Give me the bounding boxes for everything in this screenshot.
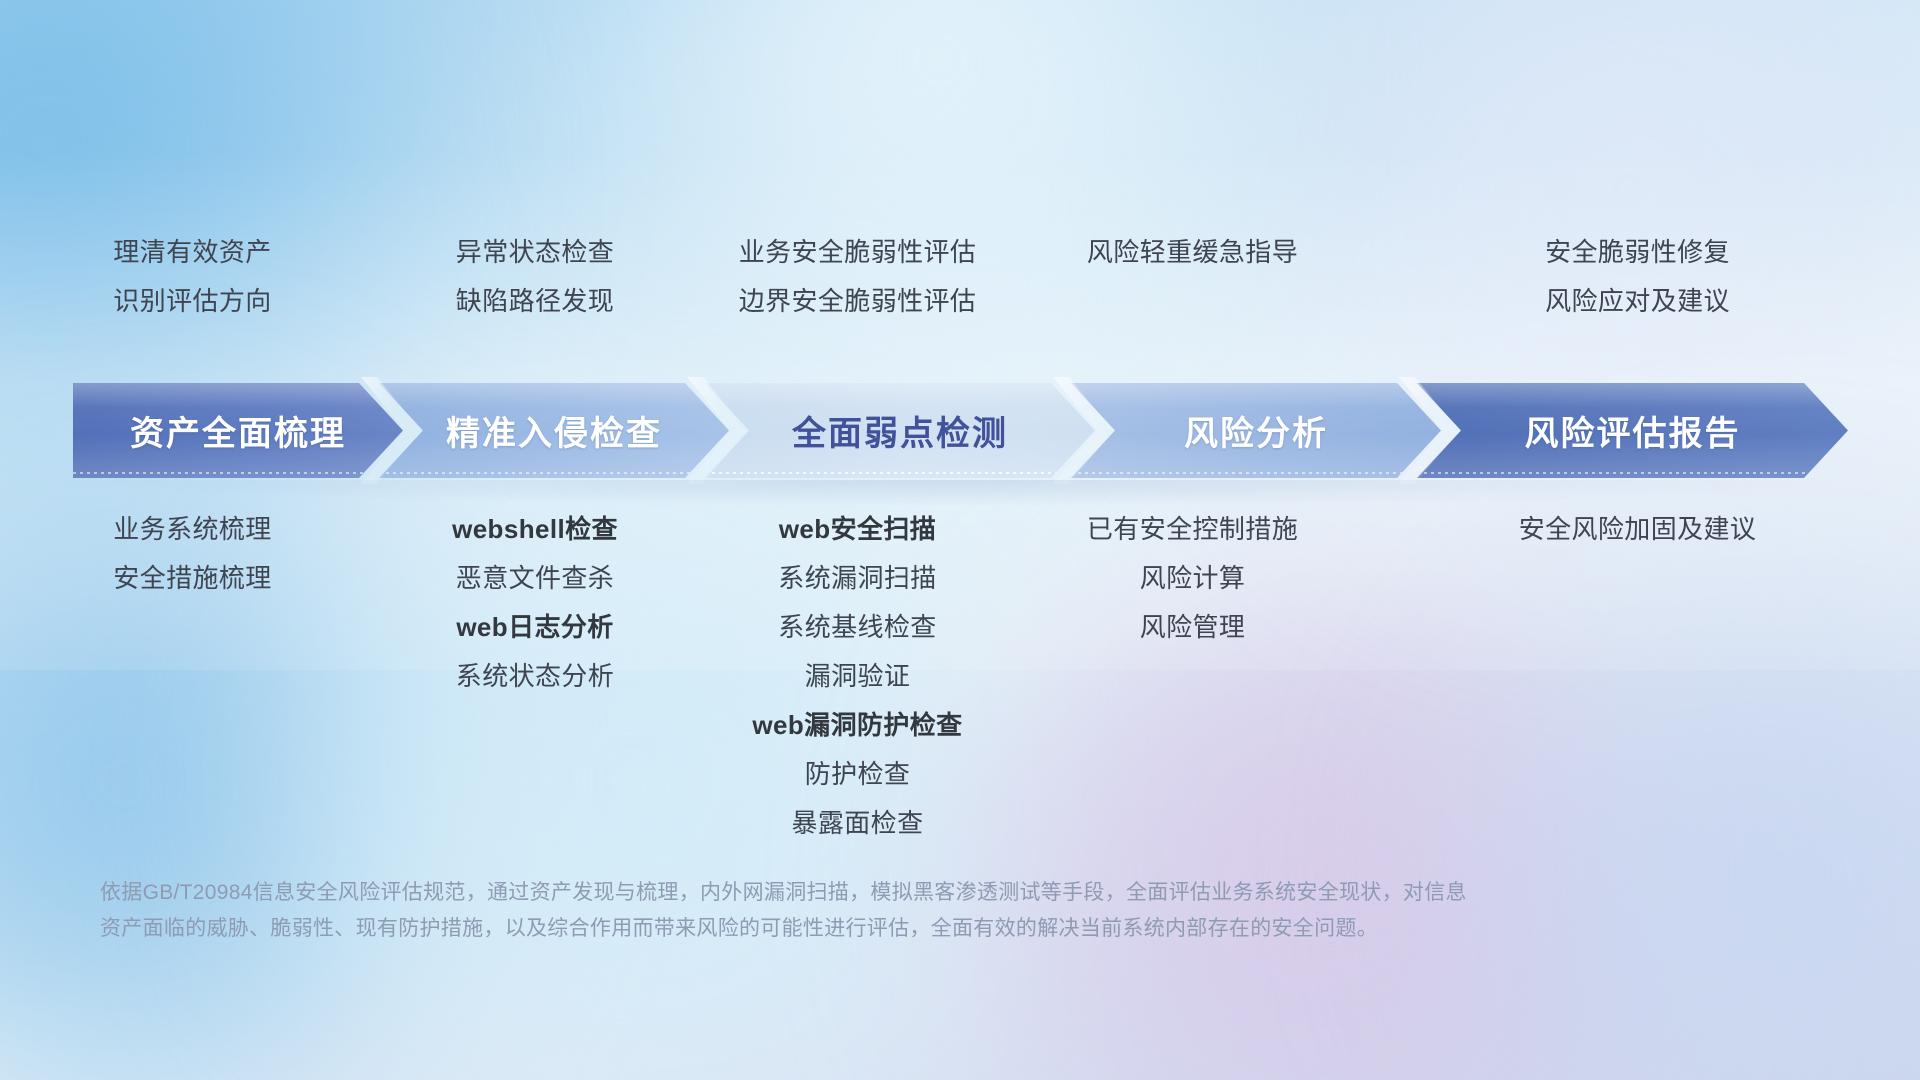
top-notes-asset-review: 理清有效资产 识别评估方向 — [0, 228, 385, 326]
band-shadow — [83, 480, 1838, 506]
footer-line-2: 资产面临的威胁、脆弱性、现有防护措施，以及综合作用而带来风险的可能性进行评估，全… — [100, 911, 1620, 947]
note-item: 安全脆弱性修复 — [1545, 228, 1730, 277]
stage-label: 风险评估报告 — [1525, 406, 1741, 455]
stage-label: 资产全面梳理 — [130, 406, 346, 455]
note-item: 系统状态分析 — [456, 652, 614, 701]
bottom-notes-weakness-detection: web安全扫描 系统漏洞扫描 系统基线检查 漏洞验证 web漏洞防护检查 防护检… — [685, 505, 1030, 848]
note-item: 边界安全脆弱性评估 — [739, 277, 977, 326]
stage-chevron-band: 资产全面梳理 精准入侵检查 全面弱点检测 风险分析 风险评估报告 — [73, 383, 1848, 478]
bottom-notes-risk-report: 安全风险加固及建议 — [1355, 505, 1920, 554]
note-item: 漏洞验证 — [805, 652, 911, 701]
stage-label: 全面弱点检测 — [792, 406, 1008, 455]
note-item: 业务系统梳理 — [113, 505, 271, 554]
note-item: 系统基线检查 — [778, 603, 936, 652]
note-item: 理清有效资产 — [113, 228, 271, 277]
bottom-notes-intrusion-check: webshell检查 恶意文件查杀 web日志分析 系统状态分析 — [385, 505, 685, 701]
note-item: 防护检查 — [805, 750, 911, 799]
note-item: 恶意文件查杀 — [456, 554, 614, 603]
note-item: 风险管理 — [1140, 603, 1246, 652]
stage-chevron-risk-analysis[interactable]: 风险分析 — [1071, 383, 1441, 478]
top-notes-risk-report: 安全脆弱性修复 风险应对及建议 — [1355, 228, 1920, 326]
note-item: web漏洞防护检查 — [752, 701, 962, 750]
note-item: 业务安全脆弱性评估 — [739, 228, 977, 277]
stage-chevron-intrusion-check[interactable]: 精准入侵检查 — [379, 383, 729, 478]
note-item: 安全措施梳理 — [113, 554, 271, 603]
bottom-notes-risk-analysis: 已有安全控制措施 风险计算 风险管理 — [1030, 505, 1355, 652]
bottom-notes-asset-review: 业务系统梳理 安全措施梳理 — [0, 505, 385, 603]
top-notes-intrusion-check: 异常状态检查 缺陷路径发现 — [385, 228, 685, 326]
stage-chevron-weakness-detection[interactable]: 全面弱点检测 — [705, 383, 1095, 478]
stage-chevron-risk-report[interactable]: 风险评估报告 — [1417, 383, 1848, 478]
stage-label: 精准入侵检查 — [446, 406, 662, 455]
note-item: web安全扫描 — [779, 505, 936, 554]
note-item: 风险应对及建议 — [1545, 277, 1730, 326]
note-item: 暴露面检查 — [791, 799, 923, 848]
note-item: 系统漏洞扫描 — [778, 554, 936, 603]
footer-line-1: 依据GB/T20984信息安全风险评估规范，通过资产发现与梳理，内外网漏洞扫描，… — [100, 875, 1620, 911]
note-item: webshell检查 — [452, 505, 618, 554]
note-item: web日志分析 — [456, 603, 613, 652]
top-notes-row: 理清有效资产 识别评估方向 异常状态检查 缺陷路径发现 业务安全脆弱性评估 边界… — [0, 228, 1920, 338]
footer-description: 依据GB/T20984信息安全风险评估规范，通过资产发现与梳理，内外网漏洞扫描，… — [100, 875, 1620, 947]
note-item: 已有安全控制措施 — [1087, 505, 1298, 554]
note-item: 安全风险加固及建议 — [1519, 505, 1757, 554]
note-item: 缺陷路径发现 — [456, 277, 614, 326]
stage-chevron-asset-review[interactable]: 资产全面梳理 — [73, 383, 403, 478]
stage-label: 风险分析 — [1184, 406, 1328, 455]
note-item: 风险轻重缓急指导 — [1087, 228, 1298, 277]
note-item: 风险计算 — [1140, 554, 1246, 603]
process-diagram: 理清有效资产 识别评估方向 异常状态检查 缺陷路径发现 业务安全脆弱性评估 边界… — [0, 0, 1920, 1080]
note-item: 识别评估方向 — [113, 277, 271, 326]
bottom-notes-row: 业务系统梳理 安全措施梳理 webshell检查 恶意文件查杀 web日志分析 … — [0, 505, 1920, 835]
note-item: 异常状态检查 — [456, 228, 614, 277]
top-notes-weakness-detection: 业务安全脆弱性评估 边界安全脆弱性评估 — [685, 228, 1030, 326]
top-notes-risk-analysis: 风险轻重缓急指导 — [1030, 228, 1355, 277]
